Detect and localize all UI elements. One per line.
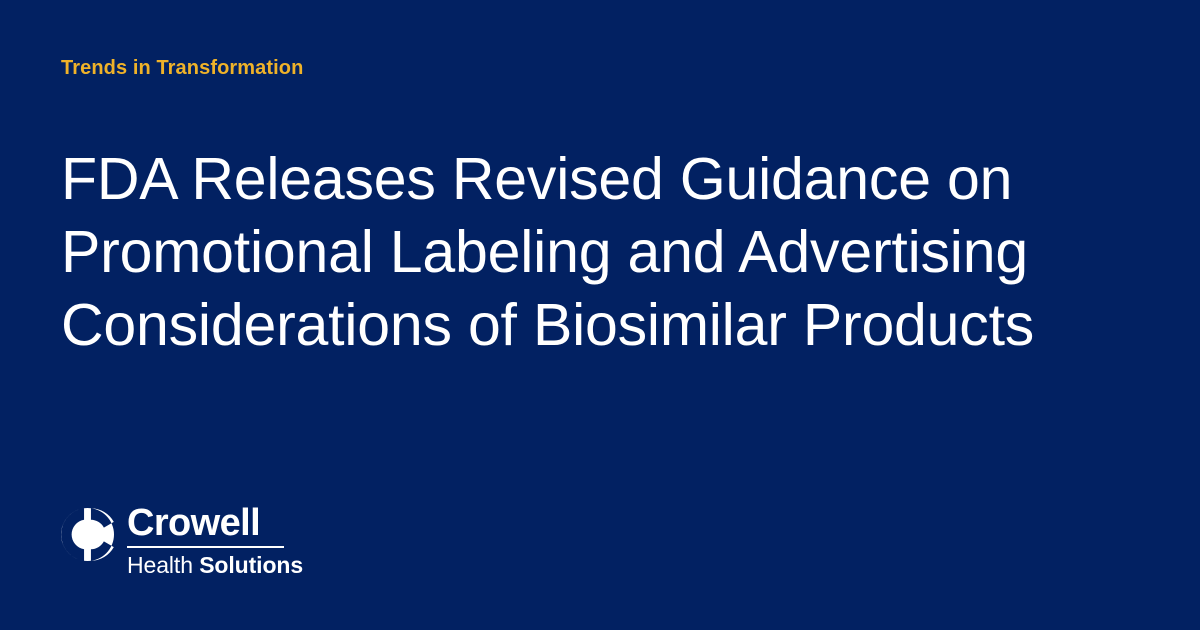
headline-line-1: FDA Releases Revised Guidance on	[61, 143, 1151, 216]
headline-line-2: Promotional Labeling and Advertising	[61, 216, 1151, 289]
eyebrow-label: Trends in Transformation	[61, 57, 303, 79]
logo-tagline-health: Health	[127, 552, 193, 578]
crowell-health-solutions-logo: Crowell Health Solutions	[61, 503, 303, 575]
social-share-card: Trends in Transformation FDA Releases Re…	[0, 0, 1200, 630]
headline-line-3: Considerations of Biosimilar Products	[61, 289, 1151, 362]
crowell-c-mark-icon	[61, 508, 114, 561]
logo-tagline-solutions: Solutions	[199, 552, 303, 578]
logo-divider-rule	[127, 546, 284, 548]
page-title: FDA Releases Revised Guidance on Promoti…	[61, 143, 1151, 362]
logo-wordmark-crowell: Crowell	[127, 503, 260, 543]
logo-wordmark-group: Crowell Health Solutions	[127, 503, 303, 578]
logo-tagline: Health Solutions	[127, 552, 303, 578]
